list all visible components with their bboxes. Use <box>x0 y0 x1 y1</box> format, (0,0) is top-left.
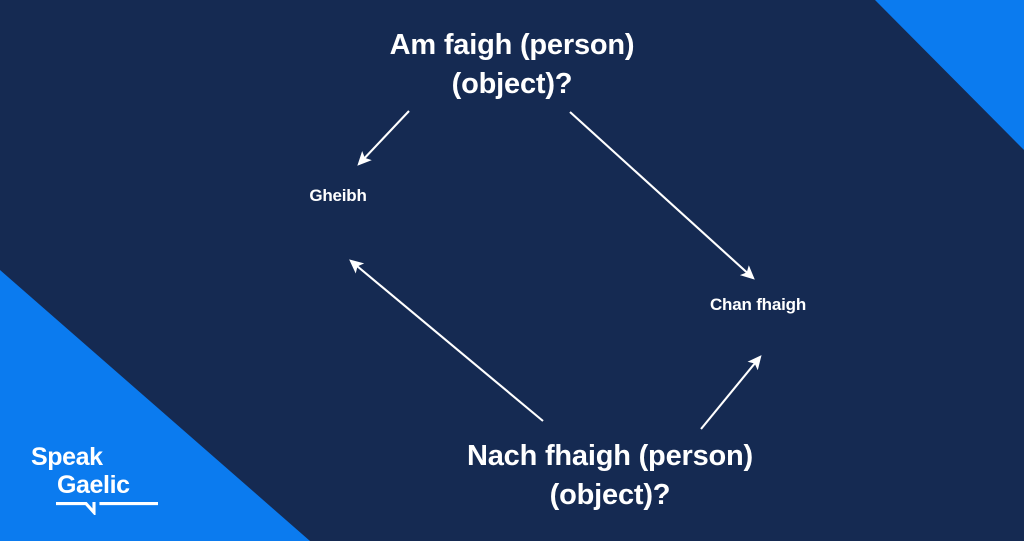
node-chan-fhaigh: Chan fhaigh <box>668 294 848 316</box>
speech-bubble-underline-icon <box>56 502 158 515</box>
slide-canvas: Am faigh (person) (object)? Gheibh Chan … <box>0 0 1024 541</box>
speakgaelic-logo: Speak Gaelic <box>31 443 171 515</box>
logo-text-speak: Speak <box>31 443 171 471</box>
arrow-bottom-to-chan-fhaigh <box>701 357 760 429</box>
node-gheibh: Gheibh <box>248 185 428 207</box>
node-bottom-question: Nach fhaigh (person) (object)? <box>345 437 875 516</box>
logo-text-gaelic: Gaelic <box>31 471 171 499</box>
node-top-question: Am faigh (person) (object)? <box>272 26 752 105</box>
arrow-top-to-gheibh <box>359 111 409 164</box>
arrow-bottom-to-gheibh <box>351 261 543 421</box>
arrow-top-to-chan-fhaigh <box>570 112 753 278</box>
